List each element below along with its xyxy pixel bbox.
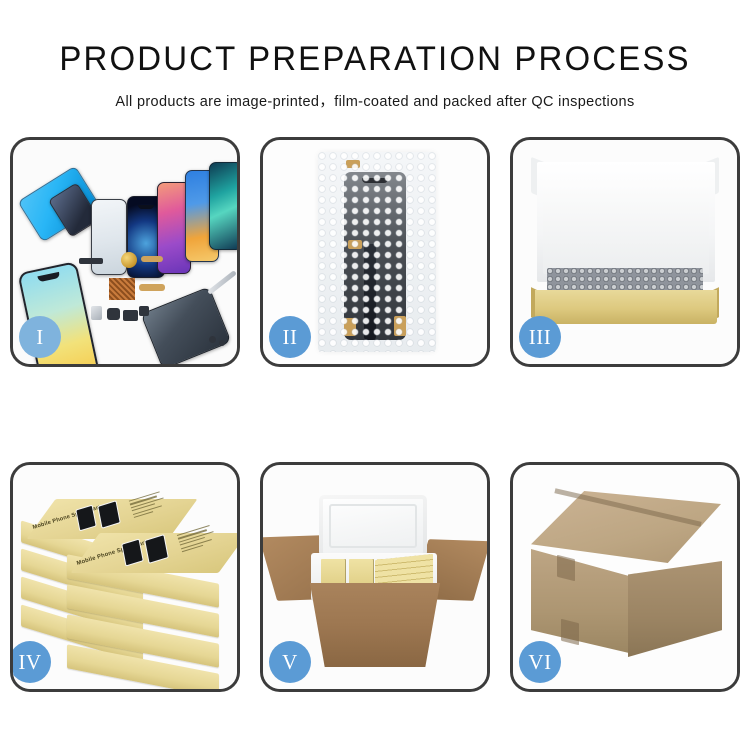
- connector-strip: [79, 258, 103, 264]
- vibration-motor-part: [121, 252, 137, 268]
- process-step-6[interactable]: VI: [510, 462, 740, 692]
- copper-shield-grid: [109, 278, 135, 300]
- step-badge-5: V: [269, 641, 311, 683]
- flex-cable-a: [141, 256, 163, 262]
- foam-sheet: [543, 178, 709, 274]
- page-subtitle: All products are image-printed，film-coat…: [0, 90, 750, 111]
- step-badge-2: II: [269, 316, 311, 358]
- camera-module: [107, 308, 120, 320]
- flex-cable-b: [139, 284, 165, 291]
- foam-box-lid: [319, 495, 427, 557]
- step-2-image: II: [263, 140, 487, 364]
- screw-set-2: [219, 340, 225, 346]
- bubble-texture: [318, 152, 436, 352]
- step-badge-6: VI: [519, 641, 561, 683]
- chip-component: [139, 306, 149, 316]
- process-step-grid: I II: [10, 137, 740, 692]
- step-5-image: V: [263, 465, 487, 689]
- page-title: PRODUCT PREPARATION PROCESS: [11, 42, 739, 76]
- process-step-4[interactable]: Mobile Phone Spare Parts Mobile Phone Sp…: [10, 462, 240, 692]
- step-1-image: I: [13, 140, 237, 364]
- process-step-3[interactable]: III: [510, 137, 740, 367]
- phone-screen-teal: [209, 162, 237, 250]
- step-badge-3: III: [519, 316, 561, 358]
- speaker-module: [123, 310, 138, 321]
- process-step-5[interactable]: V: [260, 462, 490, 692]
- step-4-image: Mobile Phone Spare Parts Mobile Phone Sp…: [13, 465, 237, 689]
- carton-body: [301, 583, 449, 667]
- battery-connector: [91, 306, 102, 320]
- carton-tab-lower: [561, 619, 579, 645]
- process-step-2[interactable]: II: [260, 137, 490, 367]
- carton-tab-upper: [557, 555, 575, 581]
- step-badge-1: I: [19, 316, 61, 358]
- box-base-kraft: [535, 290, 717, 324]
- page-header: PRODUCT PREPARATION PROCESS All products…: [0, 0, 750, 111]
- screw-set: [209, 336, 216, 343]
- step-3-image: III: [513, 140, 737, 364]
- bubble-wrap-bag: [318, 152, 436, 352]
- step-6-image: VI: [513, 465, 737, 689]
- process-step-1[interactable]: I: [10, 137, 240, 367]
- box-stack: Mobile Phone Spare Parts Mobile Phone Sp…: [19, 481, 235, 677]
